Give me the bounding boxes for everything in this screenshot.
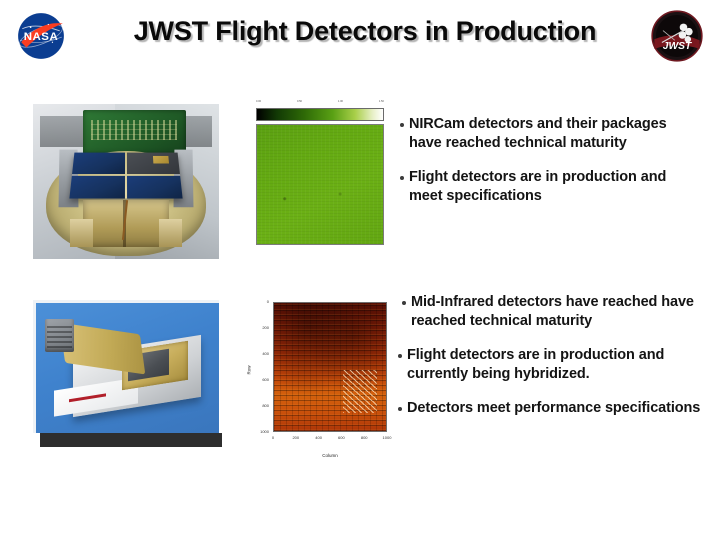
figure-nircam-photo — [33, 104, 219, 259]
bullet-list-miri: Mid-Infrared detectors have reached have… — [398, 293, 703, 434]
bullet-list-nircam: NIRCam detectors and their packages have… — [400, 115, 700, 221]
x-tick-label: 400 — [315, 436, 322, 440]
bullet-dot-icon — [402, 301, 406, 305]
x-tick-label: 800 — [361, 436, 368, 440]
bullet-dot-icon — [400, 123, 404, 127]
y-tick-label: 400 — [262, 352, 269, 356]
x-tick-label: 200 — [292, 436, 299, 440]
detector-cell — [127, 153, 180, 174]
x-axis-title: Column — [273, 453, 387, 458]
list-item: Flight detectors are in production and c… — [398, 346, 703, 383]
list-item: NIRCam detectors and their packages have… — [400, 115, 700, 152]
y-axis-title: Row — [247, 366, 252, 375]
bullet-text: Mid-Infrared detectors have reached have… — [411, 293, 703, 330]
y-tick-label: 1000 — [260, 430, 269, 434]
x-tick-label: 0 — [272, 436, 274, 440]
x-axis: 02004006008001000 — [273, 436, 387, 446]
y-tick-label: 600 — [262, 378, 269, 382]
nasa-logo-icon: NASA — [14, 10, 68, 62]
figure-nircam-plot: 0.000.501.001.50 — [247, 97, 387, 259]
x-tick-label: 600 — [338, 436, 345, 440]
figure-miri-plot: 02004006008001000 02004006008001000 Colu… — [247, 294, 393, 464]
colorbar-tick-label: 0.50 — [297, 100, 302, 103]
bullet-dot-icon — [398, 354, 402, 358]
colorbar — [256, 108, 384, 121]
colorbar-tick-label: 0.00 — [256, 100, 261, 103]
list-item: Mid-Infrared detectors have reached have… — [398, 293, 703, 330]
slide-canvas: NASA JWST Flight Detectors in Production… — [0, 0, 720, 540]
bullet-dot-icon — [398, 407, 402, 411]
detector-array — [69, 153, 182, 199]
list-item: Flight detectors are in production and m… — [400, 168, 700, 205]
circuit-board — [83, 110, 185, 153]
colorbar-tick-label: 1.50 — [379, 100, 384, 103]
x-tick-label: 1000 — [383, 436, 392, 440]
photo-drop-shadow — [40, 433, 222, 447]
slide-header: NASA JWST Flight Detectors in Production… — [0, 0, 720, 76]
bullet-text: NIRCam detectors and their packages have… — [409, 115, 700, 152]
detector-cell — [72, 153, 125, 174]
colorbar-tick-label: 1.00 — [338, 100, 343, 103]
bullet-text: Flight detectors are in production and m… — [409, 168, 700, 205]
svg-text:NASA: NASA — [24, 31, 59, 43]
y-tick-label: 800 — [262, 404, 269, 408]
colorbar-tick-labels: 0.000.501.001.50 — [256, 100, 384, 108]
y-tick-label: 0 — [267, 300, 269, 304]
page-title: JWST Flight Detectors in Production — [95, 16, 635, 47]
mount-foot-right — [159, 219, 181, 247]
bullet-text: Detectors meet performance specification… — [407, 399, 700, 418]
jwst-logo-icon: JWST — [650, 9, 704, 63]
bullet-text: Flight detectors are in production and c… — [407, 346, 703, 383]
detector-image-red — [273, 302, 387, 432]
detector-cell — [127, 175, 183, 198]
y-tick-label: 200 — [262, 326, 269, 330]
cable-connector — [45, 319, 74, 353]
bullet-dot-icon — [400, 176, 404, 180]
list-item: Detectors meet performance specification… — [398, 399, 703, 418]
detector-cell — [69, 175, 125, 198]
figure-miri-photo — [33, 300, 219, 433]
svg-text:JWST: JWST — [663, 41, 692, 52]
mount-foot-left — [70, 219, 92, 247]
detector-image-green — [256, 124, 384, 245]
